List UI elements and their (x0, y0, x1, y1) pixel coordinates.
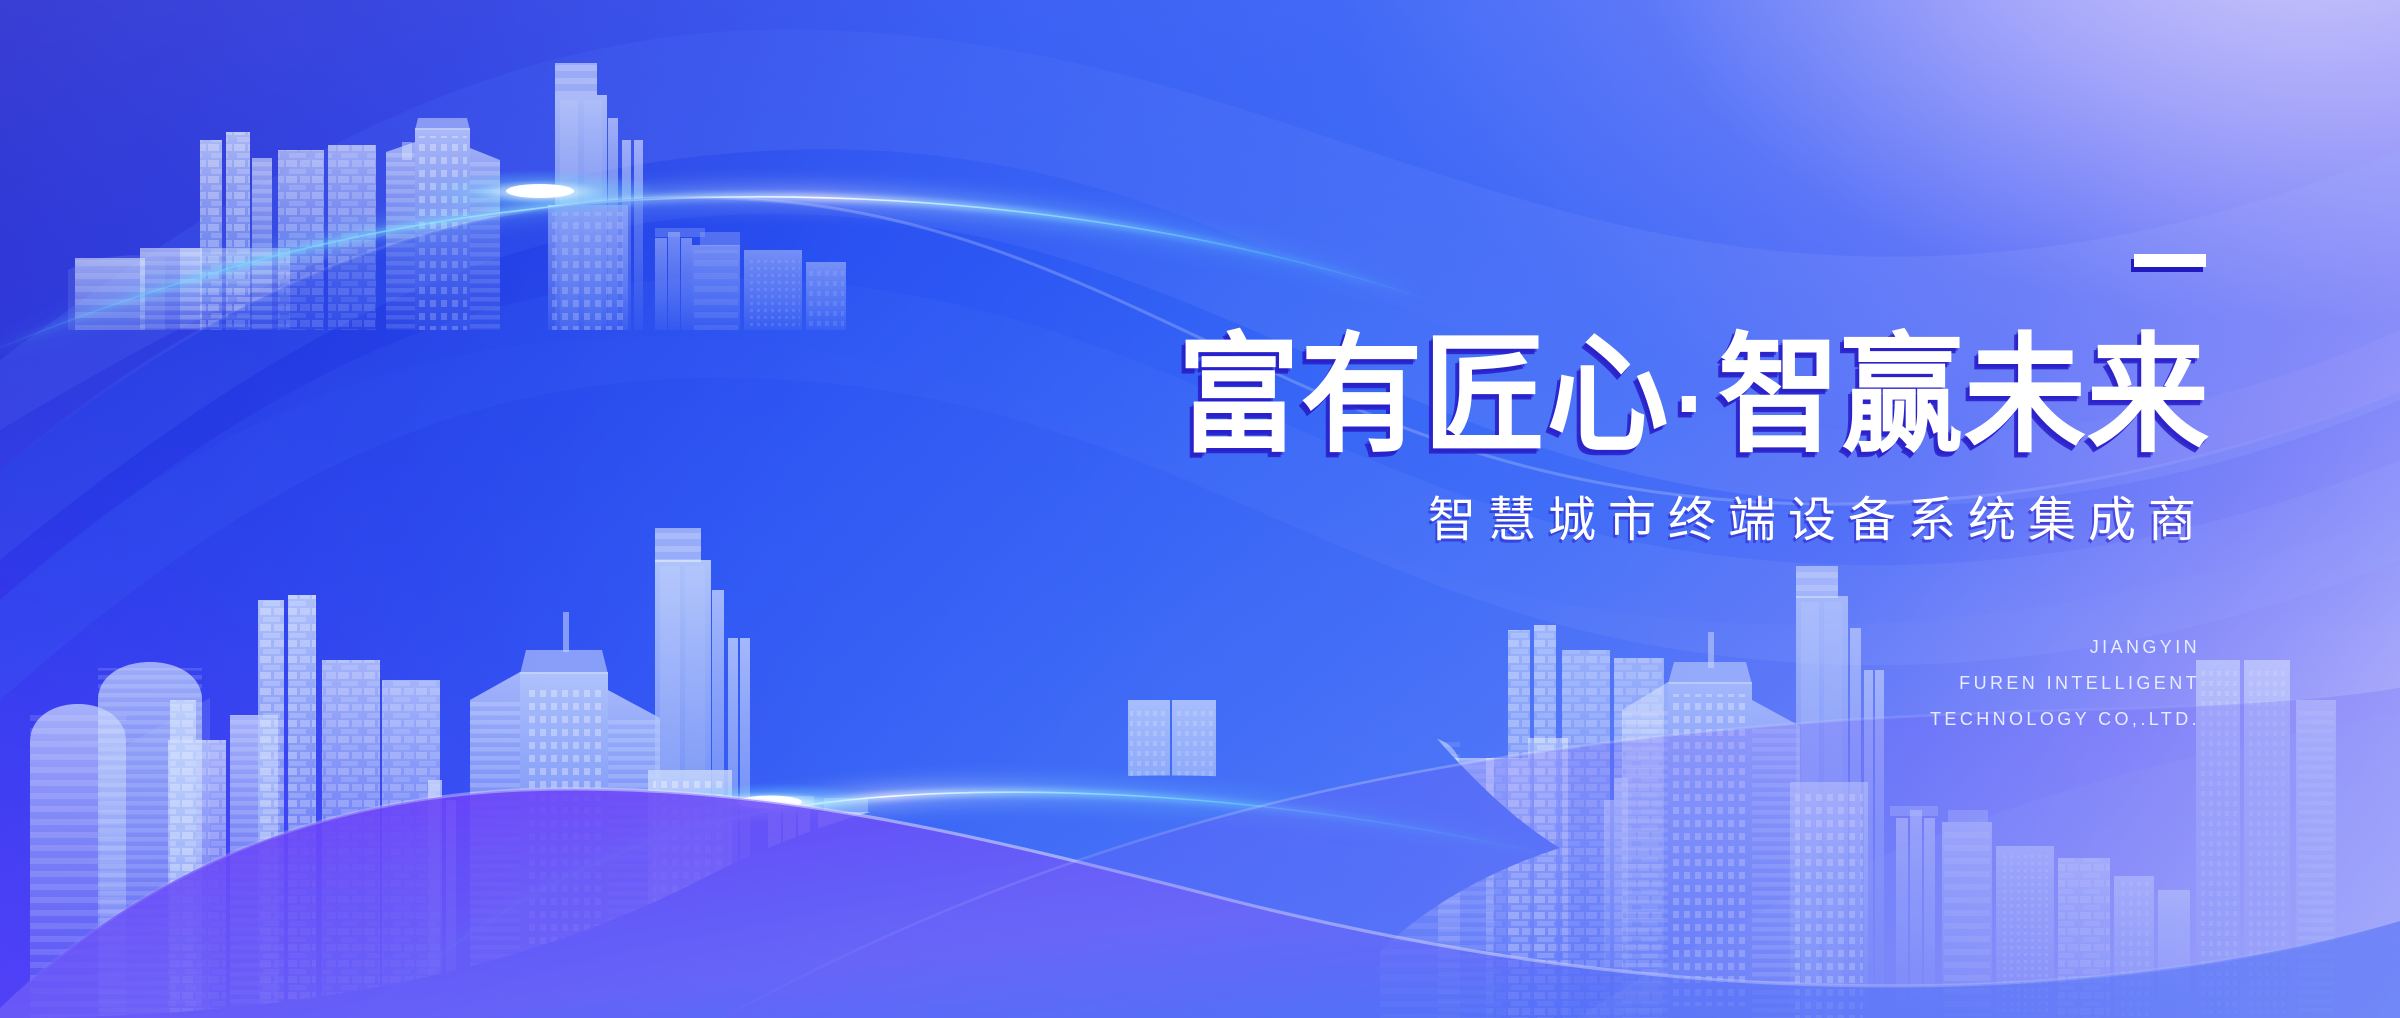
accent-dash-icon (2134, 254, 2206, 267)
page-title: 富有匠心·智赢未来 (1080, 331, 2210, 460)
company-line-1: JIANGYIN (1080, 629, 2200, 665)
page-subtitle: 智慧城市终端设备系统集成商 (1080, 494, 2210, 547)
headline-part-right: 智赢未来 (1718, 320, 2210, 471)
company-line-3: TECHNOLOGY CO,.LTD. (1080, 701, 2200, 737)
headline-separator-dot: · (1670, 355, 1718, 454)
headline-text-block: 富有匠心·智赢未来 智慧城市终端设备系统集成商 JIANGYIN FUREN I… (1080, 338, 2210, 737)
banner-root: 富有匠心·智赢未来 智慧城市终端设备系统集成商 JIANGYIN FUREN I… (0, 0, 2400, 1018)
company-name-english: JIANGYIN FUREN INTELLIGENT TECHNOLOGY CO… (1080, 629, 2210, 737)
headline-part-left: 富有匠心 (1178, 320, 1670, 471)
company-line-2: FUREN INTELLIGENT (1080, 665, 2200, 701)
